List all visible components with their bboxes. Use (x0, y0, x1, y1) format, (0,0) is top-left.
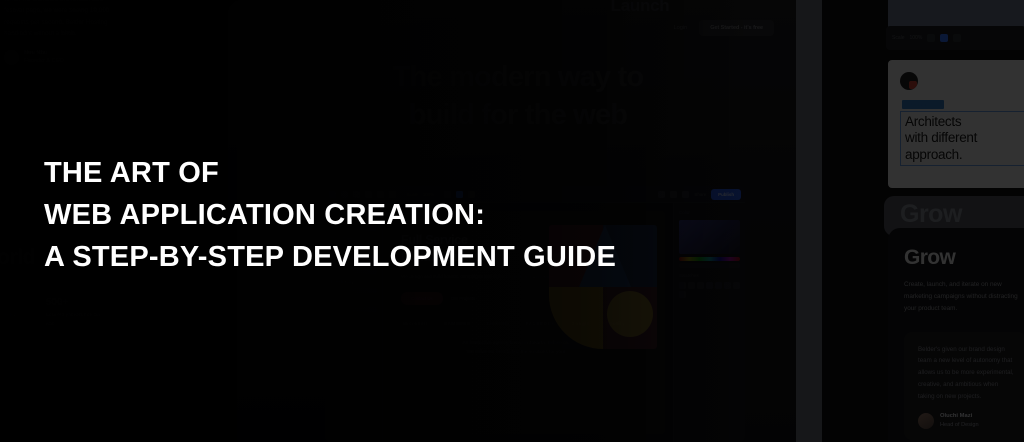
hero-banner: When we launched the Amstel Live festiva… (0, 0, 1024, 442)
headline-line-3: A STEP-BY-STEP DEVELOPMENT GUIDE (44, 236, 616, 278)
page-title: THE ART OF WEB APPLICATION CREATION: A S… (44, 152, 616, 278)
headline-line-1: THE ART OF (44, 152, 616, 194)
headline-line-2: WEB APPLICATION CREATION: (44, 194, 616, 236)
